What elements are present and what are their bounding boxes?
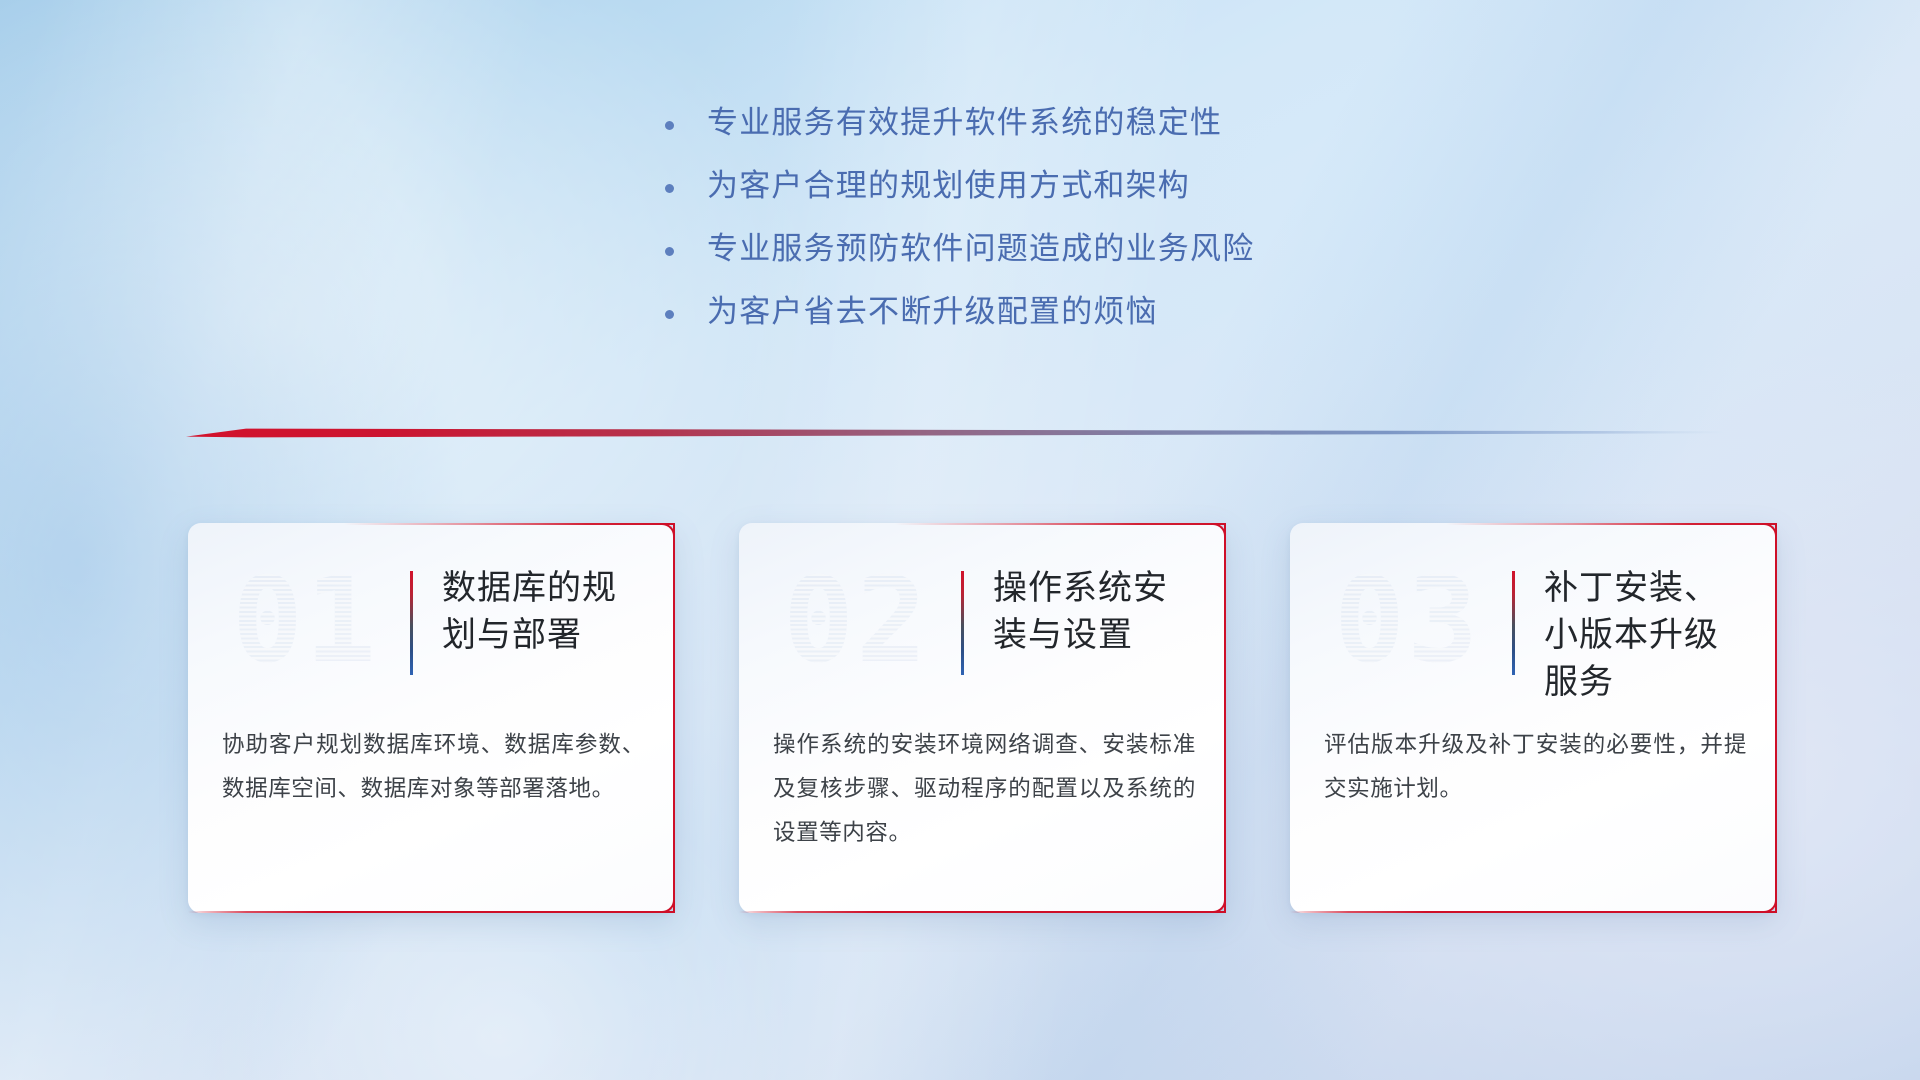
card-number-watermark: 03 <box>1334 561 1494 679</box>
accent-bottom-edge <box>1290 911 1777 913</box>
accent-corner-top-right <box>1762 523 1777 538</box>
card-title: 操作系统安装与设置 <box>993 565 1200 659</box>
card-description: 协助客户规划数据库环境、数据库参数、数据库空间、数据库对象等部署落地。 <box>222 723 645 811</box>
accent-right-edge <box>1224 523 1226 913</box>
title-accent-bar-icon <box>410 571 413 675</box>
accent-top-edge <box>1290 523 1777 525</box>
accent-right-edge <box>1775 523 1777 913</box>
accent-bottom-edge <box>739 911 1226 913</box>
card-title: 数据库的规划与部署 <box>442 565 649 659</box>
accent-corner-bottom-right <box>1211 898 1226 913</box>
service-card[interactable]: 01 01 数据库的规划与部署 协助客户规划数据库环境、数据库参数、数据库空间、… <box>188 523 675 913</box>
accent-right-edge <box>673 523 675 913</box>
title-accent-bar-icon <box>1512 571 1515 675</box>
accent-corner-top-right <box>1211 523 1226 538</box>
accent-bottom-edge <box>188 911 675 913</box>
accent-corner-top-right <box>660 523 675 538</box>
service-card[interactable]: 02 02 操作系统安装与设置 操作系统的安装环境网络调查、安装标准及复核步骤、… <box>739 523 1226 913</box>
accent-top-edge <box>188 523 675 525</box>
slide-canvas: 专业服务有效提升软件系统的稳定性 为客户合理的规划使用方式和架构 专业服务预防软… <box>0 0 1920 1080</box>
accent-top-edge <box>739 523 1226 525</box>
card-title-block: 操作系统安装与设置 <box>961 565 1200 675</box>
card-description: 操作系统的安装环境网络调查、安装标准及复核步骤、驱动程序的配置以及系统的设置等内… <box>773 723 1196 855</box>
card-number-watermark: 01 <box>232 561 392 679</box>
title-accent-bar-icon <box>961 571 964 675</box>
card-number-watermark: 02 <box>783 561 943 679</box>
card-description: 评估版本升级及补丁安装的必要性，并提交实施计划。 <box>1324 723 1747 811</box>
card-title: 补丁安装、小版本升级服务 <box>1544 565 1751 706</box>
service-card[interactable]: 03 03 补丁安装、小版本升级服务 评估版本升级及补丁安装的必要性，并提交实施… <box>1290 523 1777 913</box>
card-title-block: 数据库的规划与部署 <box>410 565 649 675</box>
accent-corner-bottom-right <box>1762 898 1777 913</box>
card-title-block: 补丁安装、小版本升级服务 <box>1512 565 1751 706</box>
accent-corner-bottom-right <box>660 898 675 913</box>
service-card-list: 01 01 数据库的规划与部署 协助客户规划数据库环境、数据库参数、数据库空间、… <box>0 0 1920 1080</box>
